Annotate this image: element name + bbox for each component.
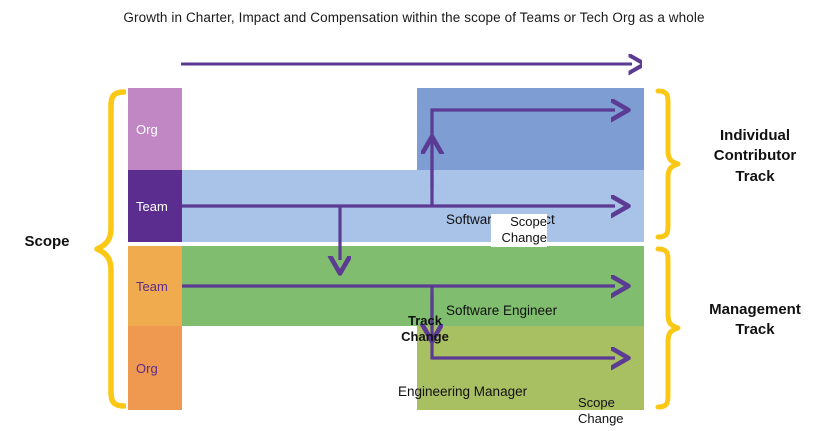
individual-contributor-track-label: Individual Contributor Track [686, 126, 824, 187]
scope-cell-label: Team [136, 199, 168, 214]
scope-cell-label: Org [136, 361, 158, 376]
band-software-architect [417, 88, 644, 170]
growth-arrow-right-icon [180, 52, 642, 76]
mgmt-label-line-2: Track [686, 320, 824, 340]
scope-cell-org-mgmt: Org [128, 326, 182, 410]
ladder-grid: Org Team Team Org [128, 88, 644, 410]
ic-label-line-3: Track [686, 167, 824, 187]
track-change-line-2: Change [390, 329, 460, 345]
role-label-software-engineer: Software Engineer [446, 303, 557, 318]
mgmt-label-line-1: Management [686, 300, 824, 320]
track-change-line-1: Track [390, 313, 460, 329]
scope-cell-org-ic: Org [128, 88, 182, 170]
scope-axis-label: Scope [8, 233, 86, 250]
annotation-track-change: Track Change [390, 313, 460, 346]
scope-cell-team-mgmt: Team [128, 246, 182, 326]
management-track-label: Management Track [686, 300, 824, 341]
career-ladder-diagram: Growth in Charter, Impact and Compensati… [0, 0, 828, 431]
scope-change-mgmt-line-2: Change [578, 411, 648, 427]
band-software-engineer [182, 170, 644, 242]
role-label-engineering-manager: Engineering Manager [398, 384, 527, 399]
scope-change-ic-line-1: Scope [491, 214, 547, 230]
scope-change-ic-line-2: Change [491, 230, 547, 246]
scope-cell-label: Team [136, 279, 168, 294]
scope-cell-team-ic: Team [128, 170, 182, 242]
ic-label-line-1: Individual [686, 126, 824, 146]
annotation-scope-change-mgmt: Scope Change [578, 395, 648, 428]
ic-label-line-2: Contributor [686, 146, 824, 166]
management-track-brace [655, 246, 681, 410]
individual-contributor-brace [655, 88, 681, 240]
scope-cell-label: Org [136, 122, 158, 137]
annotation-scope-change-ic: Scope Change [491, 214, 547, 247]
scope-brace-left [92, 88, 126, 410]
diagram-title: Growth in Charter, Impact and Compensati… [0, 10, 828, 25]
scope-change-mgmt-line-1: Scope [578, 395, 648, 411]
